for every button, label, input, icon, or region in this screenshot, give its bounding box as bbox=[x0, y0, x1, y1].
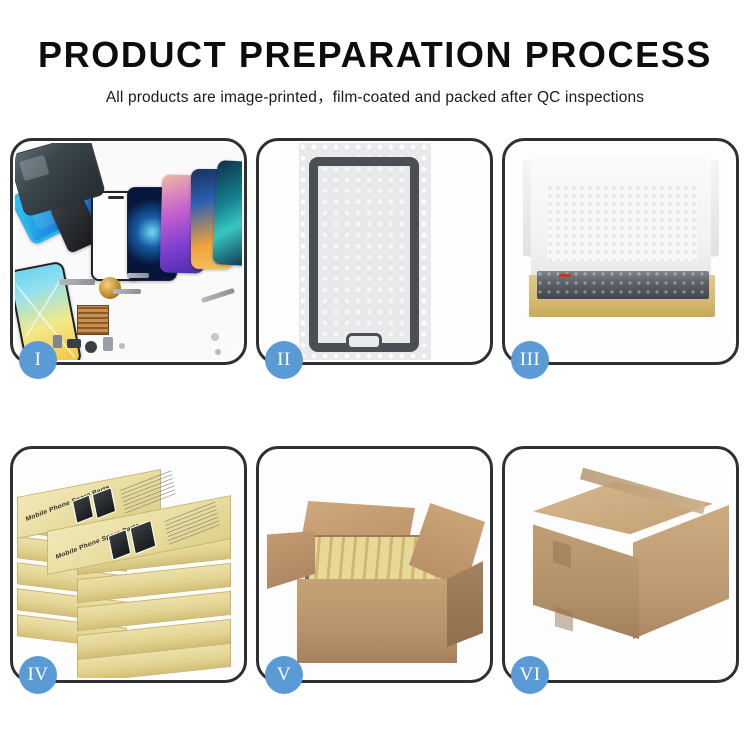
step-image-screen-in-foam-lined-box bbox=[507, 143, 734, 360]
step-panel-5[interactable]: V bbox=[256, 446, 493, 683]
process-steps-grid: I II III bbox=[10, 138, 740, 683]
copper-coil-part bbox=[99, 277, 121, 299]
page-header: PRODUCT PREPARATION PROCESS All products… bbox=[0, 0, 750, 107]
step-badge-4: IV bbox=[19, 656, 57, 694]
flex-cable-part bbox=[59, 279, 95, 285]
screw-part bbox=[119, 343, 125, 349]
vibration-motor-part bbox=[103, 337, 113, 351]
flex-cable-part bbox=[127, 273, 149, 278]
screw-part bbox=[215, 349, 221, 355]
flex-cable-part bbox=[113, 289, 141, 294]
red-label-mark bbox=[559, 274, 571, 277]
box-product-thumbnail bbox=[72, 494, 94, 524]
carton-seam-tab bbox=[555, 606, 573, 631]
page-subtitle: All products are image-printed，film-coat… bbox=[0, 74, 750, 107]
carton-front-face bbox=[533, 517, 639, 639]
box-product-thumbnail bbox=[92, 487, 117, 519]
sim-tray-part bbox=[53, 335, 62, 348]
white-foam-padding bbox=[547, 185, 697, 261]
step-badge-1: I bbox=[19, 341, 57, 379]
step-panel-1[interactable]: I bbox=[10, 138, 247, 365]
step-panel-6[interactable]: VI bbox=[502, 446, 739, 683]
step-image-open-shipping-carton bbox=[261, 451, 488, 678]
step-badge-3: III bbox=[511, 341, 549, 379]
step-badge-2: II bbox=[265, 341, 303, 379]
step-panel-2[interactable]: II bbox=[256, 138, 493, 365]
step-image-stacked-retail-boxes: Mobile Phone Spare Parts Mobile Phone Sp… bbox=[15, 451, 242, 678]
screw-part bbox=[211, 333, 219, 341]
wrapped-phone-screen bbox=[309, 157, 419, 352]
box-spec-text-lines bbox=[164, 500, 220, 544]
connector-chip-part bbox=[77, 305, 109, 335]
step-image-phone-screens-and-spare-parts bbox=[15, 143, 242, 360]
carton-front-face bbox=[297, 579, 457, 663]
step-image-sealed-shipping-carton bbox=[507, 451, 734, 678]
step-panel-3[interactable]: III bbox=[502, 138, 739, 365]
box-product-thumbnail bbox=[108, 529, 132, 561]
step-badge-5: V bbox=[265, 656, 303, 694]
step-panel-4[interactable]: Mobile Phone Spare Parts Mobile Phone Sp… bbox=[10, 446, 247, 683]
page-title: PRODUCT PREPARATION PROCESS bbox=[0, 0, 750, 74]
teal-gradient-screen bbox=[212, 160, 242, 266]
speaker-component bbox=[67, 339, 81, 348]
step-image-bubble-wrapped-screen bbox=[261, 143, 488, 360]
step-badge-6: VI bbox=[511, 656, 549, 694]
camera-module-part bbox=[85, 341, 97, 353]
